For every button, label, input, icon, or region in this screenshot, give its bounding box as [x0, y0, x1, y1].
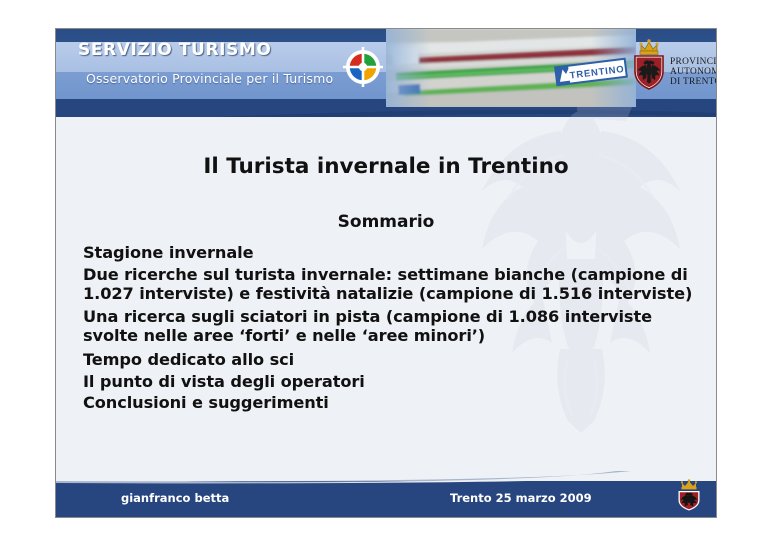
section-heading: Sommario [56, 212, 716, 232]
footer-author: gianfranco betta [121, 491, 229, 505]
list-item: Tempo dedicato allo sci [83, 351, 694, 370]
footer-date: Trento 25 marzo 2009 [450, 491, 592, 505]
list-item: Una ricerca sugli sciatori in pista (cam… [83, 308, 694, 346]
presentation-slide: TRENTINO [55, 28, 717, 518]
provincia-autonoma-logo: PROVINCIA AUTONOMA DI TRENTO [629, 35, 716, 97]
service-title: SERVIZIO TURISMO [78, 40, 333, 60]
trento-crest-icon [676, 479, 702, 511]
page-title: Il Turista invernale in Trentino [56, 154, 716, 179]
service-subtitle: Osservatorio Provinciale per il Turismo [86, 71, 333, 86]
summary-list: Stagione invernale Due ricerche sul turi… [56, 244, 716, 413]
svg-text:DI TRENTO: DI TRENTO [670, 77, 716, 87]
trentino-logo: TRENTINO [553, 57, 629, 87]
crown-icon [640, 39, 659, 54]
svg-text:AUTONOMA: AUTONOMA [670, 67, 716, 77]
header-titles: SERVIZIO TURISMO Osservatorio Provincial… [78, 40, 333, 86]
list-item: Stagione invernale [83, 244, 694, 263]
slide-content: Il Turista invernale in Trentino Sommari… [56, 124, 716, 416]
list-item: Due ricerche sul turista invernale: sett… [83, 266, 694, 304]
slide-footer: gianfranco betta Trento 25 marzo 2009 [56, 471, 716, 517]
svg-text:PROVINCIA: PROVINCIA [670, 57, 716, 67]
slide-header: TRENTINO [56, 29, 716, 117]
list-item: Il punto di vista degli operatori [83, 373, 694, 392]
list-item: Conclusioni e suggerimenti [83, 394, 694, 413]
pinwheel-logo-icon [339, 43, 387, 91]
